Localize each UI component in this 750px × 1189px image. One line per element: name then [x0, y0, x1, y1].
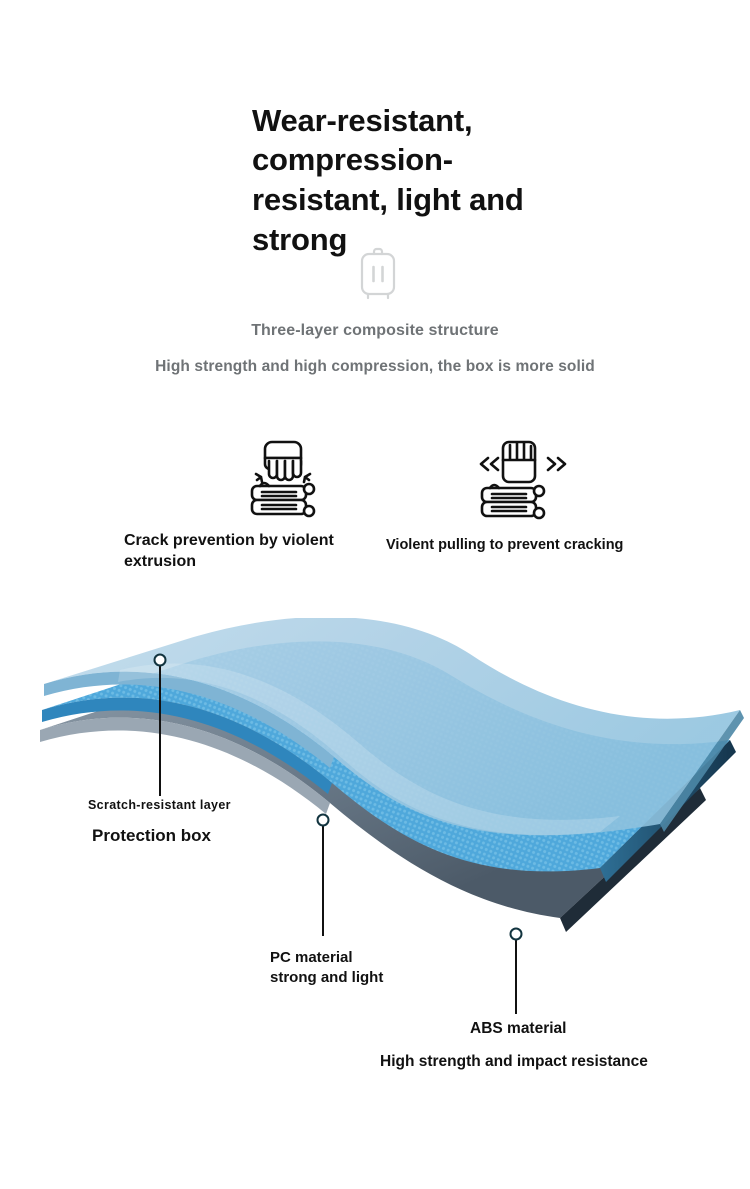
feature-pulling-caption: Violent pulling to prevent cracking	[386, 536, 646, 555]
feature-extrusion-caption: Crack prevention by violent extrusion	[124, 530, 374, 572]
callout-scratch-title: Scratch-resistant layer	[88, 798, 231, 812]
subtitle-primary: Three-layer composite structure	[0, 322, 750, 340]
callout-abs-subtitle: High strength and impact resistance	[380, 1053, 648, 1071]
callout-abs-title: ABS material	[470, 1020, 566, 1038]
feature-pulling	[438, 428, 608, 528]
callout-scratch-subtitle: Protection box	[92, 826, 211, 846]
suitcase-icon	[355, 246, 401, 304]
callout-pc-title: PC material strong and light	[270, 948, 390, 989]
subtitle-secondary: High strength and high compression, the …	[0, 358, 750, 376]
fist-pulling-suitcase-icon	[468, 428, 578, 528]
feature-extrusion	[208, 428, 378, 528]
fist-pressing-suitcase-icon	[238, 428, 348, 528]
product-feature-page: Wear-resistant, compression-resistant, l…	[0, 0, 750, 1189]
page-title: Wear-resistant, compression-resistant, l…	[252, 101, 552, 260]
